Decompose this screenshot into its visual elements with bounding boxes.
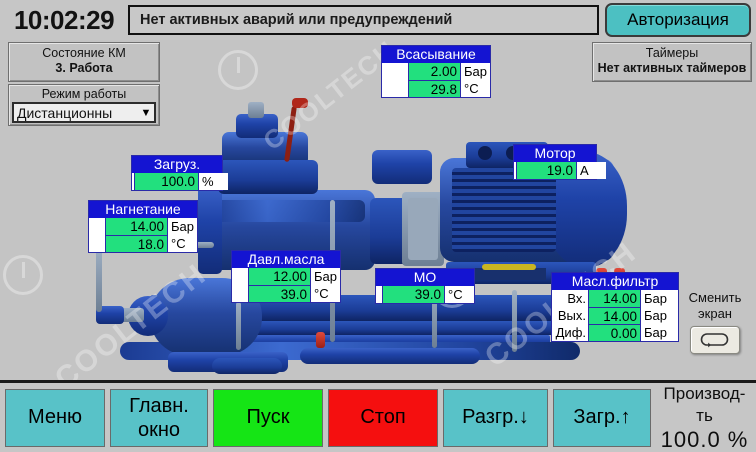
mo-title: МО [376,269,474,286]
suction-temperature-label [382,80,408,97]
oil-filter-inlet-label: Вх. [552,290,588,307]
chevron-down-icon[interactable]: ▼ [138,107,154,119]
oil-filter-diff-unit: Бар [641,324,670,341]
motor-current-value: 19.0 [516,162,577,179]
authorization-button[interactable]: Авторизация [605,3,751,37]
timers-value: Нет активных таймеров [593,61,751,76]
oil-filter-outlet-label: Вых. [552,307,588,324]
oil-filter-inlet-unit: Бар [641,290,670,307]
compressor-state-value: 3. Работа [9,61,159,76]
motor-title: Мотор [514,145,596,162]
oil-filter-outlet-row: Вых. 14.00 Бар [552,307,678,324]
oil-pressure-measurement-box[interactable]: Давл.масла 12.00 Бар 39.0 °C [231,250,341,303]
discharge-title: Нагнетание [89,201,197,218]
oil-pressure-value: 12.00 [248,268,311,285]
motor-current-row: 19.0 A [514,162,596,179]
suction-title: Всасывание [382,46,490,63]
oil-filter-outlet-unit: Бар [641,307,670,324]
motor-measurement-box[interactable]: Мотор 19.0 A [513,144,597,180]
stop-button[interactable]: Стоп [328,389,438,447]
compressor-state-title: Состояние КМ [9,46,159,61]
oil-temperature-label [232,285,248,302]
oil-filter-diff-value: 0.00 [588,324,641,341]
operating-mode-select[interactable]: Дистанционны ▼ [12,102,156,123]
main-window-label-line2: окно [138,418,180,442]
watermark-ring-icon [218,50,258,90]
load-button[interactable]: Загр.↑ [553,389,651,447]
discharge-pressure-label [89,218,105,235]
oil-filter-measurement-box[interactable]: Масл.фильтр Вх. 14.00 Бар Вых. 14.00 Бар… [551,272,679,342]
mo-temperature-unit: °C [445,286,474,303]
capacity-indicator: Производ-ть 100.0 % [657,389,752,447]
hmi-screen: 10:02:29 Нет активных аварий или предупр… [0,0,756,452]
mo-temperature-row: 39.0 °C [376,286,474,303]
oil-temperature-value: 39.0 [248,285,311,302]
top-status-bar: 10:02:29 Нет активных аварий или предупр… [0,0,756,40]
operating-mode-selected: Дистанционны [14,105,138,121]
load-percent-value: 100.0 [134,173,199,190]
oil-filter-outlet-value: 14.00 [588,307,641,324]
operating-mode-title: Режим работы [9,87,159,102]
watermark-ring-icon [3,255,43,295]
oil-filter-diff-label: Диф. [552,324,588,341]
oil-pressure-label [232,268,248,285]
compressor-state-panel: Состояние КМ 3. Работа [8,42,160,82]
oil-pressure-title: Давл.масла [232,251,340,268]
suction-measurement-box[interactable]: Всасывание 2.00 Бар 29.8 °C [381,45,491,98]
oil-temperature-unit: °C [311,285,340,302]
suction-pressure-unit: Бар [461,63,490,80]
motor-current-unit: A [577,162,606,179]
oil-filter-inlet-value: 14.00 [588,290,641,307]
main-window-label-line1: Главн. [129,394,189,418]
discharge-temperature-value: 18.0 [105,235,168,252]
suction-pressure-label [382,63,408,80]
discharge-pressure-row: 14.00 Бар [89,218,197,235]
main-mimic-area: COOLTECH COOLTECH COOLTECH Состояние КМ … [0,40,756,380]
change-screen-button[interactable] [690,326,740,354]
discharge-measurement-box[interactable]: Нагнетание 14.00 Бар 18.0 °C [88,200,198,253]
suction-temperature-value: 29.8 [408,80,461,97]
oil-filter-inlet-row: Вх. 14.00 Бар [552,290,678,307]
oil-filter-title: Масл.фильтр [552,273,678,290]
mo-measurement-box[interactable]: МО 39.0 °C [375,268,475,304]
suction-pressure-value: 2.00 [408,63,461,80]
discharge-temperature-unit: °C [168,235,197,252]
change-screen-label-line1: Сменить [676,290,754,306]
discharge-temperature-row: 18.0 °C [89,235,197,252]
unload-button[interactable]: Разгр.↓ [443,389,548,447]
suction-temperature-unit: °C [461,80,490,97]
discharge-temperature-label [89,235,105,252]
suction-pressure-row: 2.00 Бар [382,63,490,80]
alarm-message-bar[interactable]: Нет активных аварий или предупреждений [128,5,599,35]
start-button[interactable]: Пуск [213,389,323,447]
alarm-message-text: Нет активных аварий или предупреждений [130,12,452,28]
timers-title: Таймеры [593,46,751,61]
change-screen-label-line2: экран [676,306,754,322]
capacity-value: 100.0 % [661,427,749,452]
load-measurement-box[interactable]: Загруз. 100.0 % [131,155,223,191]
menu-button[interactable]: Меню [5,389,105,447]
clock-display: 10:02:29 [0,5,128,36]
change-screen-control: Сменить экран [676,290,754,354]
load-percent-row: 100.0 % [132,173,222,190]
discharge-pressure-unit: Бар [168,218,197,235]
oil-temperature-row: 39.0 °C [232,285,340,302]
suction-temperature-row: 29.8 °C [382,80,490,97]
bottom-toolbar: Меню Главн. окно Пуск Стоп Разгр.↓ Загр.… [0,380,756,452]
load-title: Загруз. [132,156,222,173]
timers-panel: Таймеры Нет активных таймеров [592,42,752,82]
oil-filter-diff-row: Диф. 0.00 Бар [552,324,678,341]
oil-pressure-row: 12.00 Бар [232,268,340,285]
discharge-pressure-value: 14.00 [105,218,168,235]
mo-temperature-value: 39.0 [382,286,445,303]
loop-arrow-icon [698,331,732,349]
load-percent-unit: % [199,173,228,190]
main-window-button[interactable]: Главн. окно [110,389,208,447]
capacity-title: Производ-ть [657,383,752,427]
oil-pressure-unit: Бар [311,268,340,285]
